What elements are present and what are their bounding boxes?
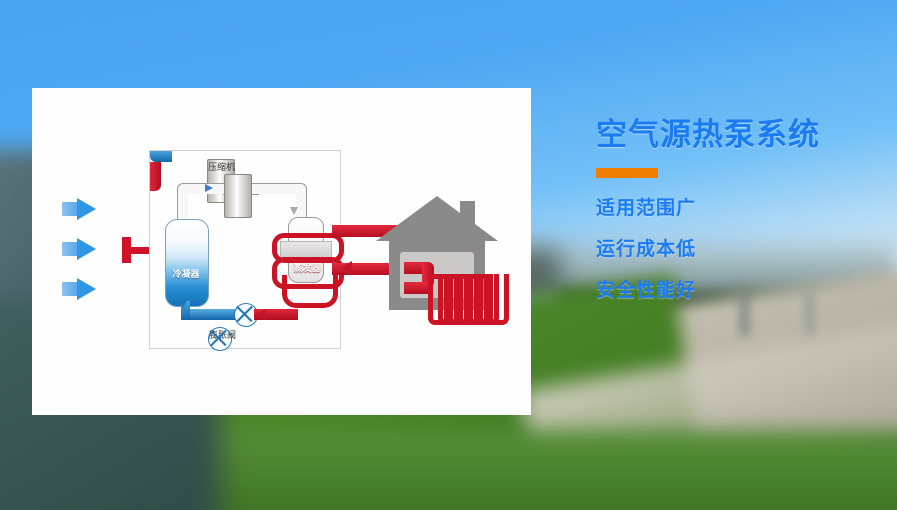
arrow-head bbox=[77, 238, 96, 260]
arrow-head bbox=[77, 278, 96, 300]
arrow-tail bbox=[62, 202, 78, 216]
flow-arrow-icon-hot-line bbox=[256, 309, 266, 319]
flow-arrow-icon-return bbox=[340, 261, 352, 275]
refrigerant-circuit-frame: 压缩机 膨胀阀 冷凝器 bbox=[149, 150, 341, 349]
underfloor-loop bbox=[488, 274, 509, 325]
roof bbox=[376, 196, 498, 241]
pipe-hot-line-corner bbox=[150, 162, 161, 191]
feature-item: 适用范围广 bbox=[596, 199, 896, 218]
feature-item: 运行成本低 bbox=[596, 240, 896, 259]
slide-root: 压缩机 膨胀阀 冷凝器 bbox=[0, 0, 897, 510]
air-flow-arrow-icon bbox=[62, 238, 96, 260]
pipe-liquid-line-corner bbox=[150, 151, 172, 162]
evaporator-assembly: 蒸发器 bbox=[268, 217, 342, 317]
compressor-body bbox=[224, 174, 252, 218]
pipe-underfloor-outlet bbox=[404, 282, 430, 294]
air-flow-arrow-icon bbox=[62, 278, 96, 300]
arrow-head bbox=[77, 198, 96, 220]
underfloor-area bbox=[400, 252, 474, 298]
text-panel: 空气源热泵系统 适用范围广 运行成本低 安全性能好 bbox=[596, 118, 896, 300]
diagram-card: 压缩机 膨胀阀 冷凝器 bbox=[32, 88, 531, 415]
expansion-valve-label: 膨胀阀 bbox=[208, 327, 232, 351]
feature-list: 适用范围广 运行成本低 安全性能好 bbox=[596, 199, 896, 300]
underfloor-serpentine-loops bbox=[428, 274, 500, 322]
underfloor-loop-join bbox=[453, 274, 464, 279]
condenser-label: 冷凝器 bbox=[165, 267, 207, 280]
evaporator-coil-bottom bbox=[282, 275, 338, 308]
condenser-vessel bbox=[165, 219, 209, 307]
pipe-discharge-downcomer bbox=[296, 189, 307, 220]
flow-arrow-icon-liquid-line bbox=[178, 299, 188, 308]
feature-item: 安全性能好 bbox=[596, 281, 896, 300]
arrow-tail bbox=[62, 282, 78, 296]
air-flow-arrow-icon bbox=[62, 198, 96, 220]
page-title: 空气源热泵系统 bbox=[596, 118, 896, 152]
underfloor-loop-join bbox=[433, 274, 444, 279]
title-underline-rule bbox=[596, 168, 658, 178]
flow-arrow-icon-compressor-inlet bbox=[205, 184, 213, 192]
underfloor-loop-join bbox=[473, 274, 484, 279]
flow-arrow-icon-evaporator-inlet bbox=[290, 207, 298, 215]
pipe-suction-left-riser bbox=[177, 189, 188, 219]
pipe-liquid-line-to-valve bbox=[190, 309, 236, 320]
house-illustration bbox=[376, 196, 498, 310]
arrow-tail bbox=[62, 242, 78, 256]
evaporator-label: 蒸发器 bbox=[282, 261, 332, 274]
